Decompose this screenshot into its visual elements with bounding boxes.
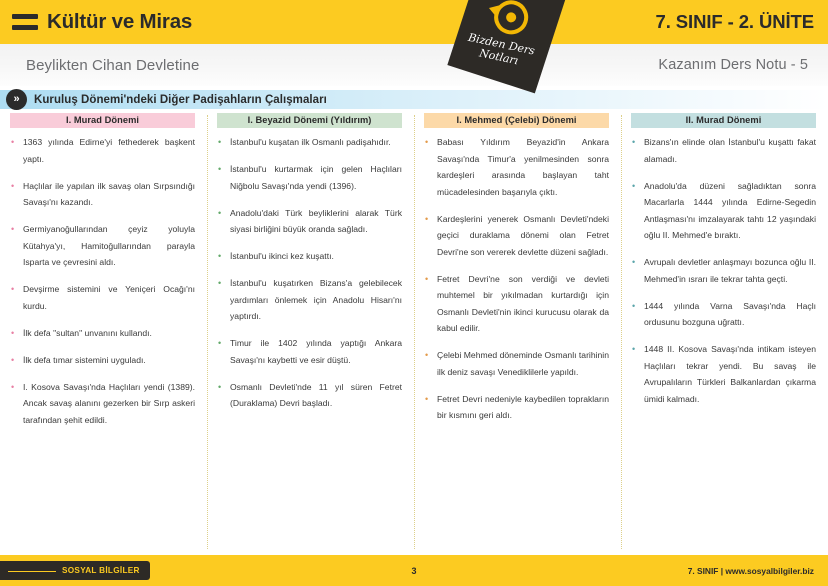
- column-heading: I. Mehmed (Çelebi) Dönemi: [424, 113, 609, 128]
- list-item: Haçlılar ile yapılan ilk savaş olan Sırp…: [10, 178, 195, 211]
- hamburger-icon: [12, 14, 38, 30]
- footer-bar: SOSYAL BİLGİLER 3 7. SINIF | www.sosyalb…: [0, 555, 828, 586]
- list-item: Kardeşlerini yenerek Osmanlı Devleti'nde…: [424, 211, 609, 261]
- list-item: Çelebi Mehmed döneminde Osmanlı tarihini…: [424, 347, 609, 380]
- section-title-bar: » Kuruluş Dönemi'ndeki Diğer Padişahları…: [0, 90, 828, 109]
- list-item: İstanbul'u kuşatırken Bizans'a gelebilec…: [217, 275, 402, 325]
- bullet-list: Babası Yıldırım Beyazid'in Ankara Savaşı…: [424, 134, 609, 424]
- subtitle-bar: Beylikten Cihan Devletine Kazanım Ders N…: [0, 44, 828, 86]
- bullet-list: İstanbul'u kuşatan ilk Osmanlı padişahıd…: [217, 134, 402, 412]
- grade-unit-label: 7. SINIF - 2. ÜNİTE: [656, 11, 814, 33]
- bullet-list: Bizans'ın elinde olan İstanbul'u kuşattı…: [631, 134, 816, 407]
- list-item: Fetret Devri nedeniyle kaybedilen toprak…: [424, 391, 609, 424]
- column-heading: I. Murad Dönemi: [10, 113, 195, 128]
- list-item: İstanbul'u kuşatan ilk Osmanlı padişahıd…: [217, 134, 402, 151]
- list-item: Fetret Devri'ne son verdiği ve devleti m…: [424, 271, 609, 337]
- logo-text: Bizden Ders Notları: [464, 32, 536, 71]
- list-item: Bizans'ın elinde olan İstanbul'u kuşattı…: [631, 134, 816, 167]
- section-title: Kuruluş Dönemi'ndeki Diğer Padişahların …: [34, 94, 327, 106]
- list-item: Anadolu'da düzeni sağladıktan sonra Maca…: [631, 178, 816, 244]
- column-ii-murad: II. Murad Dönemi Bizans'ın elinde olan İ…: [621, 113, 828, 553]
- list-item: Germiyanoğullarından çeyiz yoluyla Kütah…: [10, 221, 195, 271]
- footer-website: 7. SINIF | www.sosyalbilgiler.biz: [688, 566, 814, 576]
- list-item: Babası Yıldırım Beyazid'in Ankara Savaşı…: [424, 134, 609, 200]
- list-item: İlk defa "sultan" unvanını kullandı.: [10, 325, 195, 342]
- column-heading: I. Beyazid Dönemi (Yıldırım): [217, 113, 402, 128]
- list-item: Avrupalı devletler anlaşmayı bozunca oğl…: [631, 254, 816, 287]
- list-item: İstanbul'u kurtarmak için gelen Haçlılar…: [217, 161, 402, 194]
- bullet-list: 1363 yılında Edirne'yi fethederek başken…: [10, 134, 195, 428]
- double-chevron-right-icon: »: [6, 89, 27, 110]
- column-i-mehmed-celebi: I. Mehmed (Çelebi) Dönemi Babası Yıldırı…: [414, 113, 621, 553]
- subtitle-right: Kazanım Ders Notu - 5: [658, 57, 808, 73]
- list-item: İstanbul'u ikinci kez kuşattı.: [217, 248, 402, 265]
- worksheet-page: Kültür ve Miras 7. SINIF - 2. ÜNİTE Beyl…: [0, 0, 828, 586]
- list-item: Devşirme sistemini ve Yeniçeri Ocağı'nı …: [10, 281, 195, 314]
- columns-container: I. Murad Dönemi 1363 yılında Edirne'yi f…: [0, 113, 828, 553]
- list-item: İlk defa tımar sistemini uyguladı.: [10, 352, 195, 369]
- page-title: Kültür ve Miras: [47, 10, 192, 34]
- subtitle-left: Beylikten Cihan Devletine: [26, 57, 199, 74]
- list-item: Timur ile 1402 yılında yaptığı Ankara Sa…: [217, 335, 402, 368]
- spiral-arrow-icon: [490, 0, 533, 39]
- list-item: I. Kosova Savaşı'nda Haçlıları yendi (13…: [10, 379, 195, 429]
- list-item: Anadolu'daki Türk beyliklerini alarak Tü…: [217, 205, 402, 238]
- list-item: 1444 yılında Varna Savaşı'nda Haçlı ordu…: [631, 298, 816, 331]
- list-item: 1448 II. Kosova Savaşı'nda intikam istey…: [631, 341, 816, 407]
- top-header-bar: Kültür ve Miras 7. SINIF - 2. ÜNİTE: [0, 0, 828, 44]
- list-item: Osmanlı Devleti'nde 11 yıl süren Fetret …: [217, 379, 402, 412]
- column-i-beyazid: I. Beyazid Dönemi (Yıldırım) İstanbul'u …: [207, 113, 414, 553]
- column-heading: II. Murad Dönemi: [631, 113, 816, 128]
- list-item: 1363 yılında Edirne'yi fethederek başken…: [10, 134, 195, 167]
- column-i-murad: I. Murad Dönemi 1363 yılında Edirne'yi f…: [0, 113, 207, 553]
